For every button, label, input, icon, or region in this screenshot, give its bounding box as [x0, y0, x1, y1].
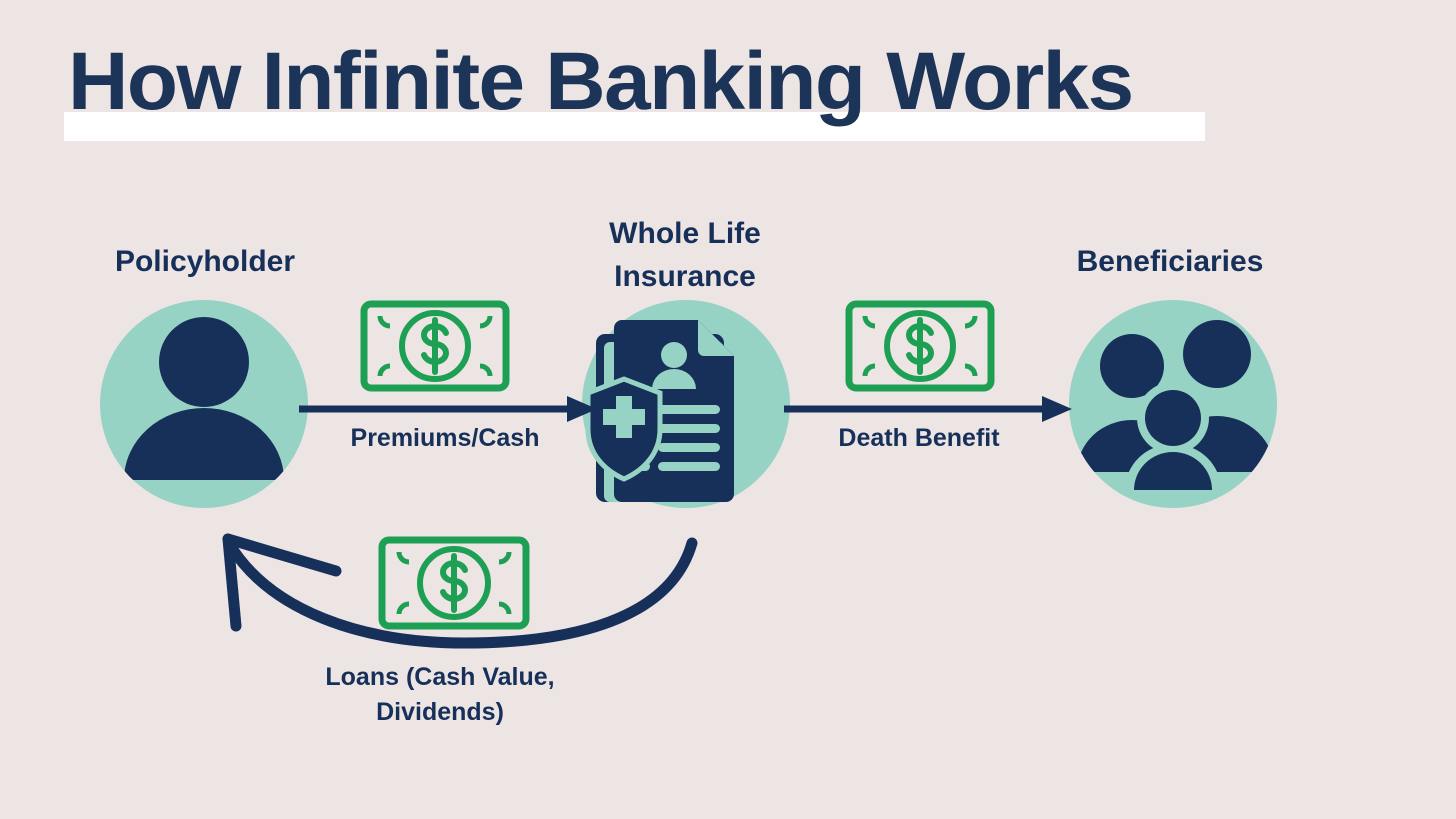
- whole-life-label: Whole Life Insurance: [545, 212, 825, 298]
- loans-flow-label: Loans (Cash Value, Dividends): [285, 660, 595, 730]
- loans-flow-label-line2: Dividends): [285, 695, 595, 730]
- family-group-icon: [1069, 300, 1277, 508]
- banknote-dollar-icon-premiums: [360, 300, 510, 392]
- infographic-canvas: How Infinite Banking Works Policyholder: [0, 0, 1456, 819]
- death-benefit-flow-label: Death Benefit: [790, 421, 1048, 456]
- loans-flow-label-line1: Loans (Cash Value,: [285, 660, 595, 695]
- whole-life-label-line2: Insurance: [545, 255, 825, 298]
- beneficiaries-label: Beneficiaries: [1020, 240, 1320, 283]
- banknote-dollar-icon-death-benefit: [845, 300, 995, 392]
- banknote-dollar-icon-loans: [378, 536, 530, 630]
- insurance-document-shield-icon: [570, 288, 802, 520]
- policyholder-label: Policyholder: [55, 240, 355, 283]
- premiums-flow-label: Premiums/Cash: [295, 421, 595, 456]
- page-title: How Infinite Banking Works: [68, 36, 1292, 128]
- person-icon: [100, 300, 308, 508]
- whole-life-label-line1: Whole Life: [545, 212, 825, 255]
